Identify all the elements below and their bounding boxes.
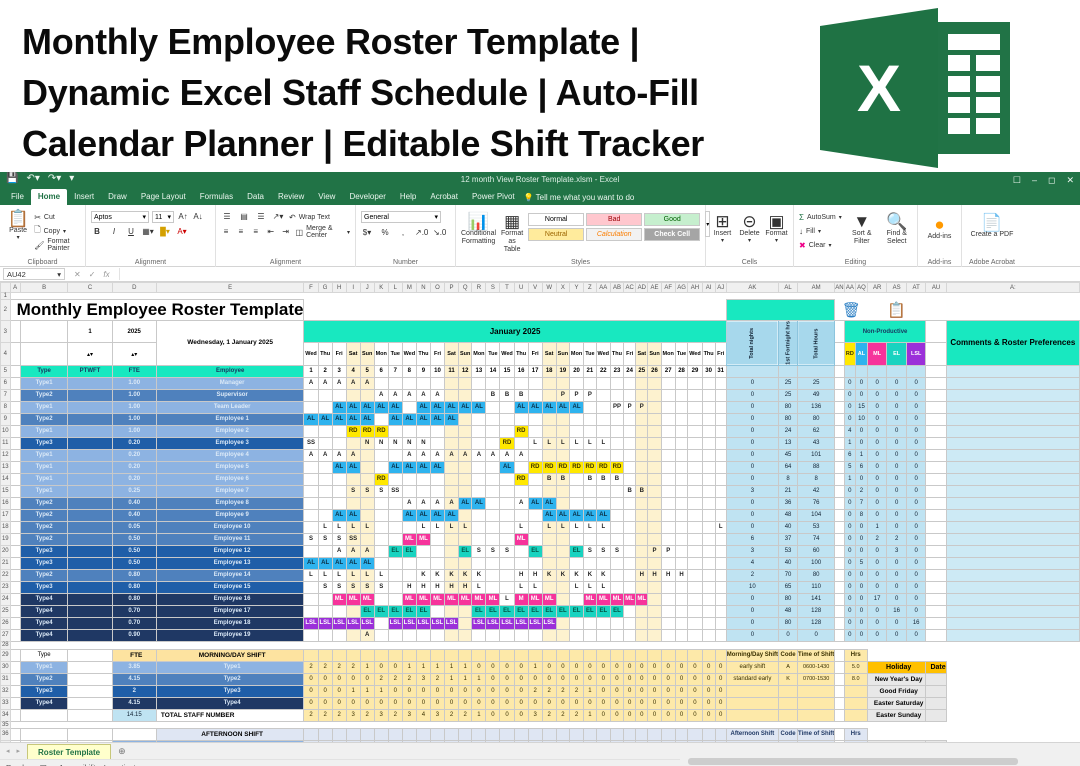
shift-cell[interactable] (402, 485, 416, 497)
total-hours-cell[interactable]: 60 (798, 545, 835, 557)
sort-filter-button[interactable]: ▼ Sort & Filter (847, 211, 877, 246)
cell[interactable] (835, 497, 844, 509)
cell[interactable] (556, 649, 569, 661)
shift-cell[interactable] (688, 569, 702, 581)
shift-cell[interactable] (486, 569, 500, 581)
shift-cell[interactable]: S (304, 533, 318, 545)
shift-cell[interactable] (430, 377, 444, 389)
shift-cell[interactable] (570, 593, 584, 605)
shift-cell[interactable] (715, 617, 726, 629)
shift-cell[interactable]: AL (360, 401, 374, 413)
cell[interactable] (835, 473, 844, 485)
shift-cell[interactable] (318, 425, 332, 437)
shift-cell[interactable] (388, 425, 402, 437)
shift-cell[interactable] (459, 605, 472, 617)
non-productive-count-cell[interactable]: 0 (844, 557, 855, 569)
cell[interactable] (10, 509, 20, 521)
cell[interactable] (570, 641, 584, 649)
shift-cell[interactable]: AL (416, 413, 430, 425)
non-productive-count-cell[interactable]: 8 (856, 509, 868, 521)
shift-cell[interactable]: L (360, 569, 374, 581)
shift-cell[interactable] (459, 461, 472, 473)
shift-cell[interactable] (715, 461, 726, 473)
cell[interactable] (472, 641, 486, 649)
shift-cell[interactable] (596, 629, 610, 641)
column-header-row[interactable]: ABCDEFGHIJKLMNOPQRSTUVWXYZAAABACADAEAFAG… (1, 283, 1080, 293)
shift-cell[interactable] (596, 485, 610, 497)
shift-cell[interactable] (675, 605, 688, 617)
row-header[interactable]: 30 (1, 661, 11, 673)
shift-cell[interactable]: RD (528, 461, 542, 473)
shift-cell[interactable]: SS (304, 437, 318, 449)
holiday-date-cell[interactable] (926, 740, 946, 742)
cell[interactable] (388, 728, 402, 740)
cell[interactable] (867, 293, 887, 300)
cell[interactable] (661, 641, 675, 649)
row-header[interactable]: 33 (1, 697, 11, 709)
shift-cell[interactable] (444, 377, 458, 389)
non-productive-count-cell[interactable]: 2 (867, 533, 887, 545)
employee-row[interactable]: 10Type11.00Employee 2RDRDRDRD0246240000 (1, 425, 1080, 437)
shift-cell[interactable]: L (514, 521, 528, 533)
spinner-control[interactable]: ▴▾ (112, 343, 156, 365)
non-productive-count-cell[interactable]: 16 (906, 617, 926, 629)
row-header[interactable]: 20 (1, 545, 11, 557)
cell[interactable] (10, 581, 20, 593)
total-hours-cell[interactable]: 104 (798, 509, 835, 521)
font-size-input[interactable]: 11 ▾ (152, 211, 174, 223)
shift-cell[interactable] (444, 461, 458, 473)
row-header[interactable]: 16 (1, 497, 11, 509)
shift-cell[interactable] (500, 377, 514, 389)
minimize-icon[interactable]: – (1032, 175, 1037, 186)
shift-cell[interactable] (596, 533, 610, 545)
non-productive-count-cell[interactable]: 0 (906, 461, 926, 473)
shift-cell[interactable] (388, 509, 402, 521)
shift-cell[interactable]: RD (360, 425, 374, 437)
shift-cell[interactable] (459, 473, 472, 485)
shift-count-cell[interactable]: 2 (388, 709, 402, 721)
shift-cell[interactable] (388, 569, 402, 581)
shift-cell[interactable] (486, 425, 500, 437)
shift-cell[interactable] (542, 485, 556, 497)
non-productive-count-cell[interactable]: 0 (887, 629, 907, 641)
total-nights-cell[interactable]: 0 (726, 629, 778, 641)
shift-count-cell[interactable]: 0 (661, 697, 675, 709)
employee-fte[interactable]: 0.80 (112, 569, 156, 581)
shift-cell[interactable] (610, 425, 623, 437)
shift-cell[interactable]: L (528, 581, 542, 593)
shift-cell[interactable]: H (648, 569, 661, 581)
shift-cell[interactable] (648, 533, 661, 545)
shift-cell[interactable] (688, 581, 702, 593)
shift-cell[interactable] (542, 533, 556, 545)
shift-count-cell[interactable]: 0 (675, 697, 688, 709)
shift-cell[interactable] (318, 629, 332, 641)
shift-cell[interactable]: S (360, 581, 374, 593)
shift-cell[interactable] (688, 509, 702, 521)
non-productive-count-cell[interactable]: 5 (844, 461, 855, 473)
shift-cell[interactable] (702, 617, 715, 629)
shift-cell[interactable]: ML (430, 593, 444, 605)
non-productive-count-cell[interactable]: 0 (887, 521, 907, 533)
shift-cell[interactable]: B (542, 473, 556, 485)
shift-cell[interactable]: ML (444, 593, 458, 605)
employee-row[interactable]: 11Type30.20Employee 3SSNNNNNRDLLLLLL0134… (1, 437, 1080, 449)
shift-cell[interactable]: H (636, 569, 648, 581)
fortnight-hours-cell[interactable]: 40 (779, 557, 798, 569)
cell[interactable] (10, 728, 20, 740)
employee-type[interactable]: Type2 (20, 521, 68, 533)
non-productive-count-cell[interactable]: 0 (867, 389, 887, 401)
shift-cell[interactable] (636, 425, 648, 437)
shift-cell[interactable] (610, 509, 623, 521)
shift-count-cell[interactable]: 2 (332, 661, 346, 673)
shift-cell[interactable]: EL (388, 605, 402, 617)
shift-cell[interactable] (430, 557, 444, 569)
shift-count-cell[interactable]: 1 (430, 661, 444, 673)
cell[interactable] (112, 721, 156, 728)
shift-count-cell[interactable]: 0 (486, 661, 500, 673)
spinner-control[interactable]: ▴▾ (68, 343, 112, 365)
cell[interactable] (68, 697, 112, 709)
shift-cell[interactable]: A (430, 449, 444, 461)
cell[interactable] (926, 545, 946, 557)
employee-fte[interactable]: 0.05 (112, 521, 156, 533)
shift-cell[interactable]: K (570, 569, 584, 581)
cell[interactable] (10, 461, 20, 473)
non-productive-count-cell[interactable]: 0 (887, 449, 907, 461)
shift-count-cell[interactable]: 0 (584, 740, 597, 742)
employee-row[interactable]: 15Type10.25Employee 7SSSSSBB3214202000 (1, 485, 1080, 497)
shift-cell[interactable] (715, 389, 726, 401)
cell[interactable] (10, 533, 20, 545)
sheet-table[interactable]: ABCDEFGHIJKLMNOPQRSTUVWXYZAAABACADAEAFAG… (0, 282, 1080, 742)
non-productive-count-cell[interactable]: 0 (844, 401, 855, 413)
shift-cell[interactable]: P (556, 389, 569, 401)
percent-style-icon[interactable]: % (379, 227, 391, 239)
column-header[interactable]: Q (459, 283, 472, 293)
shift-cell[interactable] (318, 485, 332, 497)
fill-color-icon[interactable]: █▾ (159, 226, 171, 238)
non-productive-count-cell[interactable]: 0 (867, 425, 887, 437)
employee-name[interactable]: Manager (156, 377, 304, 389)
row-header[interactable]: 8 (1, 401, 11, 413)
cell[interactable] (844, 293, 855, 300)
shift-count-cell[interactable]: 0 (702, 697, 715, 709)
shift-cell[interactable] (636, 509, 648, 521)
employee-type[interactable]: Type1 (20, 473, 68, 485)
shift-cell[interactable] (388, 449, 402, 461)
column-header[interactable]: I (346, 283, 360, 293)
shift-cell[interactable] (472, 533, 486, 545)
shift-cell[interactable] (472, 425, 486, 437)
shift-count-cell[interactable]: 2 (402, 673, 416, 685)
row-header[interactable]: 5 (1, 365, 11, 377)
shift-cell[interactable]: AL (444, 509, 458, 521)
column-header[interactable]: AB (610, 283, 623, 293)
non-productive-count-cell[interactable]: 0 (887, 389, 907, 401)
cell[interactable] (68, 661, 112, 673)
shift-cell[interactable] (528, 389, 542, 401)
record-macro-icon[interactable]: ▣ (40, 763, 47, 766)
shift-cell[interactable]: A (374, 389, 388, 401)
non-productive-count-cell[interactable]: 0 (844, 569, 855, 581)
merge-center-button[interactable]: ◫ Merge & Center ▾ (296, 226, 350, 238)
cell[interactable] (500, 721, 514, 728)
holiday-date-cell[interactable] (926, 709, 946, 721)
shift-cell[interactable]: AL (430, 461, 444, 473)
employee-row[interactable]: 22Type20.80Employee 14LLLLLLKKKKKHHKKKKK… (1, 569, 1080, 581)
shift-cell[interactable] (416, 545, 430, 557)
shift-cell[interactable] (472, 461, 486, 473)
shift-cell[interactable] (304, 389, 318, 401)
shift-cell[interactable]: ML (584, 593, 597, 605)
shift-cell[interactable]: L (570, 437, 584, 449)
shift-count-cell[interactable]: 2 (304, 709, 318, 721)
cell[interactable] (688, 649, 702, 661)
shift-cell[interactable]: AL (346, 413, 360, 425)
cell[interactable] (835, 293, 844, 300)
cell[interactable] (867, 649, 946, 661)
shift-cell[interactable] (702, 425, 715, 437)
total-hours-cell[interactable]: 74 (798, 533, 835, 545)
fortnight-hours-cell[interactable]: 53 (779, 545, 798, 557)
employee-row[interactable]: 13Type10.20Employee 5ALALALALALALALRDRDR… (1, 461, 1080, 473)
shift-cell[interactable] (542, 413, 556, 425)
row-header[interactable]: 9 (1, 413, 11, 425)
cell[interactable] (20, 641, 68, 649)
shift-cell[interactable] (636, 413, 648, 425)
shift-cell[interactable]: L (556, 437, 569, 449)
shift-cell[interactable] (528, 413, 542, 425)
cell[interactable] (10, 629, 20, 641)
font-color-icon[interactable]: A▾ (176, 226, 188, 238)
cell[interactable] (856, 721, 868, 728)
shift-cell[interactable] (610, 629, 623, 641)
cell[interactable] (835, 449, 844, 461)
shift-cell[interactable] (304, 485, 318, 497)
shift-count-cell[interactable]: 0 (304, 740, 318, 742)
shift-cell[interactable] (661, 497, 675, 509)
total-hours-cell[interactable]: 100 (798, 557, 835, 569)
shift-cell[interactable]: AL (556, 401, 569, 413)
shift-cell[interactable]: AL (332, 461, 346, 473)
shift-cell[interactable] (715, 569, 726, 581)
cell[interactable] (528, 649, 542, 661)
shift-cell[interactable]: LSL (346, 617, 360, 629)
shift-cell[interactable] (661, 629, 675, 641)
cell[interactable] (20, 321, 68, 343)
cell[interactable] (835, 401, 844, 413)
shift-cell[interactable]: L (332, 521, 346, 533)
cell[interactable] (556, 641, 569, 649)
shift-count-cell[interactable]: 0 (388, 661, 402, 673)
cell[interactable] (926, 389, 946, 401)
holiday-date-cell[interactable] (926, 697, 946, 709)
row-header[interactable]: 18 (1, 521, 11, 533)
shift-count-cell[interactable]: 0 (500, 709, 514, 721)
cell[interactable] (304, 649, 318, 661)
column-header[interactable]: AL (779, 283, 798, 293)
non-productive-count-cell[interactable]: 10 (856, 413, 868, 425)
shift-cell[interactable] (528, 473, 542, 485)
shift-cell[interactable] (542, 425, 556, 437)
shift-cell[interactable]: AL (332, 509, 346, 521)
shift-cell[interactable] (332, 473, 346, 485)
cell[interactable] (688, 641, 702, 649)
cell[interactable] (835, 661, 844, 673)
cell[interactable] (926, 321, 946, 343)
non-productive-count-cell[interactable]: 0 (867, 509, 887, 521)
row-header[interactable]: 36 (1, 728, 11, 740)
employee-row[interactable]: 16Type20.40Employee 8AAAAALALAALAL036760… (1, 497, 1080, 509)
cell[interactable] (20, 293, 68, 300)
cell[interactable] (10, 401, 20, 413)
cell[interactable] (675, 641, 688, 649)
shift-cell[interactable]: AL (304, 557, 318, 569)
non-productive-count-cell[interactable]: 0 (887, 473, 907, 485)
shift-cell[interactable] (648, 389, 661, 401)
total-nights-cell[interactable]: 0 (726, 473, 778, 485)
cell[interactable] (835, 697, 844, 709)
cell[interactable] (68, 728, 112, 740)
shift-cell[interactable] (514, 413, 528, 425)
shift-count-cell[interactable]: 0 (636, 697, 648, 709)
shift-cell[interactable] (610, 485, 623, 497)
holiday-date-cell[interactable] (926, 685, 946, 697)
cell[interactable] (835, 437, 844, 449)
shift-cell[interactable] (332, 485, 346, 497)
cell[interactable] (360, 293, 374, 300)
column-header[interactable]: F (304, 283, 318, 293)
ribbon-tab-strip[interactable]: File Home Insert Draw Page Layout Formul… (0, 189, 1080, 205)
shift-cell[interactable] (688, 545, 702, 557)
shift-cell[interactable] (624, 509, 636, 521)
shift-summary-row[interactable]: 37Type10000000000000000000001111121000la… (1, 740, 1080, 742)
non-productive-cell[interactable] (844, 365, 855, 377)
shift-cell[interactable]: ML (332, 593, 346, 605)
non-productive-count-cell[interactable]: 0 (844, 485, 855, 497)
shift-count-cell[interactable]: 0 (542, 697, 556, 709)
non-productive-count-cell[interactable]: 0 (887, 437, 907, 449)
shift-cell[interactable] (715, 425, 726, 437)
shift-count-cell[interactable]: 1 (624, 740, 636, 742)
shift-cell[interactable]: AL (360, 557, 374, 569)
cell[interactable] (946, 641, 1079, 649)
total-hours-cell[interactable]: 25 (798, 377, 835, 389)
shift-cell[interactable]: H (430, 581, 444, 593)
shift-cell[interactable]: P (584, 389, 597, 401)
shift-cell[interactable]: AL (416, 401, 430, 413)
shift-count-cell[interactable]: 1 (416, 661, 430, 673)
shift-cell[interactable]: A (430, 389, 444, 401)
shift-count-cell[interactable]: 0 (610, 685, 623, 697)
shift-cell[interactable]: H (416, 581, 430, 593)
cell[interactable] (648, 649, 661, 661)
cell[interactable] (835, 709, 844, 721)
non-productive-count-cell[interactable]: 0 (856, 389, 868, 401)
shift-cell[interactable] (688, 413, 702, 425)
cell[interactable] (416, 293, 430, 300)
total-nights-cell[interactable]: 0 (726, 425, 778, 437)
shift-cell[interactable]: S (596, 545, 610, 557)
autosum-chevron-icon[interactable]: ▾ (839, 214, 842, 221)
cell[interactable] (444, 728, 458, 740)
cell[interactable] (726, 641, 778, 649)
cell[interactable] (304, 641, 318, 649)
non-productive-count-cell[interactable]: 0 (844, 629, 855, 641)
shift-cell[interactable]: LSL (500, 617, 514, 629)
employee-type[interactable]: Type3 (20, 437, 68, 449)
cell[interactable] (304, 293, 318, 300)
shift-count-cell[interactable]: 0 (715, 673, 726, 685)
row-header[interactable]: 32 (1, 685, 11, 697)
shift-cell[interactable]: AL (402, 413, 416, 425)
shift-cell[interactable]: B (556, 473, 569, 485)
shift-cell[interactable] (556, 557, 569, 569)
shift-count-cell[interactable]: 0 (332, 673, 346, 685)
shift-cell[interactable]: EL (472, 605, 486, 617)
shift-cell[interactable] (374, 509, 388, 521)
shift-cell[interactable] (318, 437, 332, 449)
total-nights-cell[interactable]: 0 (726, 401, 778, 413)
non-productive-count-cell[interactable]: 1 (867, 521, 887, 533)
cell[interactable] (702, 641, 715, 649)
non-productive-count-cell[interactable]: 0 (856, 581, 868, 593)
shift-cell[interactable] (346, 497, 360, 509)
shift-cell[interactable]: B (610, 473, 623, 485)
autosum-button[interactable]: Σ AutoSum ▾ (799, 211, 842, 223)
total-hours-cell[interactable]: 76 (798, 497, 835, 509)
non-productive-count-cell[interactable]: 0 (856, 473, 868, 485)
shift-cell[interactable]: AL (388, 461, 402, 473)
shift-cell[interactable] (636, 389, 648, 401)
shift-cell[interactable] (715, 449, 726, 461)
shift-cell[interactable] (661, 461, 675, 473)
employee-type[interactable]: Type2 (20, 413, 68, 425)
employee-row[interactable]: 19Type20.50Employee 11SSSSSMLMLML6377400… (1, 533, 1080, 545)
shift-cell[interactable]: L (332, 569, 346, 581)
shift-count-cell[interactable]: 2 (318, 661, 332, 673)
employee-type[interactable]: Type4 (20, 593, 68, 605)
employee-name[interactable]: Employee 1 (156, 413, 304, 425)
non-productive-count-cell[interactable]: 0 (867, 449, 887, 461)
shift-cell[interactable] (570, 533, 584, 545)
comment-cell[interactable] (946, 413, 1079, 425)
shift-cell[interactable]: A (318, 377, 332, 389)
cell[interactable] (68, 293, 112, 300)
shift-cell[interactable]: RD (610, 461, 623, 473)
non-productive-count-cell[interactable]: 1 (844, 473, 855, 485)
format-painter-button[interactable]: 🖌 Format Painter (34, 239, 80, 251)
insert-chevron-icon[interactable]: ▾ (721, 237, 724, 244)
shift-cell[interactable] (528, 449, 542, 461)
shift-cell[interactable] (570, 629, 584, 641)
row-header[interactable]: 34 (1, 709, 11, 721)
shift-cell[interactable] (486, 557, 500, 569)
shift-cell[interactable] (514, 629, 528, 641)
shift-cell[interactable] (388, 533, 402, 545)
comma-style-icon[interactable]: , (397, 227, 409, 239)
cell[interactable] (402, 721, 416, 728)
shift-cell[interactable] (648, 437, 661, 449)
shift-cell[interactable] (318, 593, 332, 605)
shift-count-cell[interactable]: 2 (661, 740, 675, 742)
column-header[interactable]: V (528, 283, 542, 293)
shift-cell[interactable] (648, 377, 661, 389)
cell[interactable] (675, 721, 688, 728)
